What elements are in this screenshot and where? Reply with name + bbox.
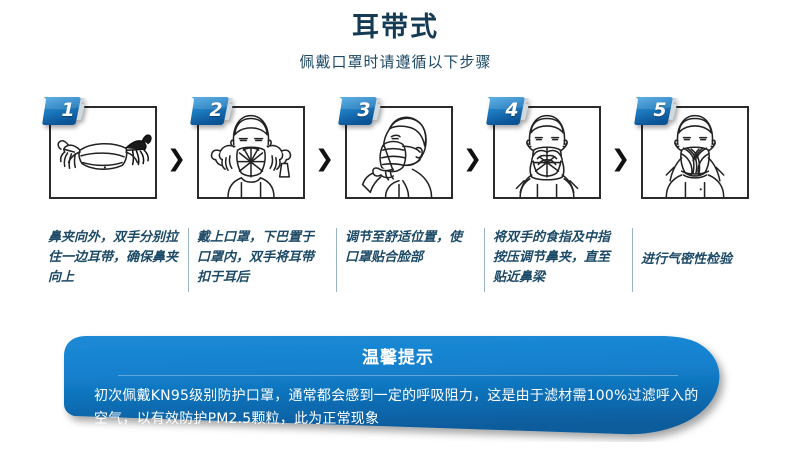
step-4-thumbnail: 4	[493, 96, 605, 201]
step-3-number: 3	[345, 96, 383, 125]
step-1-caption: 鼻夹向外，双手分别拉住一边耳带，确保鼻夹向上	[40, 228, 188, 292]
step-2: 2	[188, 96, 313, 201]
tip-banner-content: 温馨提示 初次佩戴KN95级别防护口罩，通常都会感到一定的呼吸阻力，这是由于滤材…	[62, 330, 734, 442]
tip-body: 初次佩戴KN95级别防护口罩，通常都会感到一定的呼吸阻力，这是由于滤材需100%…	[94, 385, 706, 431]
page-header: 耳带式 佩戴口罩时请遵循以下步骤	[0, 12, 791, 72]
step-2-number: 2	[197, 96, 235, 125]
chevron-right-icon: ❯	[165, 148, 188, 171]
tip-banner: 温馨提示 初次佩戴KN95级别防护口罩，通常都会感到一定的呼吸阻力，这是由于滤材…	[62, 330, 734, 442]
step-2-thumbnail: 2	[197, 96, 309, 201]
step-4: 4	[484, 96, 609, 201]
step-5-caption: 进行气密性检验	[632, 228, 780, 292]
step-5-thumbnail: 5	[641, 96, 753, 201]
step-3-caption: 调节至舒适位置，使口罩贴合脸部	[336, 228, 484, 292]
step-1-thumbnail: 1	[49, 96, 161, 201]
step-4-caption: 将双手的食指及中指按压调节鼻夹，直至贴近鼻梁	[484, 228, 632, 292]
chevron-right-icon: ❯	[461, 148, 484, 171]
page-subtitle: 佩戴口罩时请遵循以下步骤	[0, 51, 791, 72]
chevron-right-icon: ❯	[609, 148, 632, 171]
step-5-number: 5	[641, 96, 679, 125]
step-2-caption: 戴上口罩，下巴置于口罩内，双手将耳带扣于耳后	[188, 228, 336, 292]
tip-title: 温馨提示	[62, 343, 734, 368]
step-4-number: 4	[493, 96, 531, 125]
page-title: 耳带式	[0, 12, 791, 44]
tip-divider	[118, 375, 678, 376]
step-1: 1	[40, 96, 165, 201]
step-1-number: 1	[49, 96, 87, 125]
step-captions: 鼻夹向外，双手分别拉住一边耳带，确保鼻夹向上 戴上口罩，下巴置于口罩内，双手将耳…	[40, 228, 756, 300]
step-3: 3	[336, 96, 461, 201]
chevron-right-icon: ❯	[313, 148, 336, 171]
step-5: 5	[632, 96, 757, 201]
step-3-thumbnail: 3	[345, 96, 457, 201]
